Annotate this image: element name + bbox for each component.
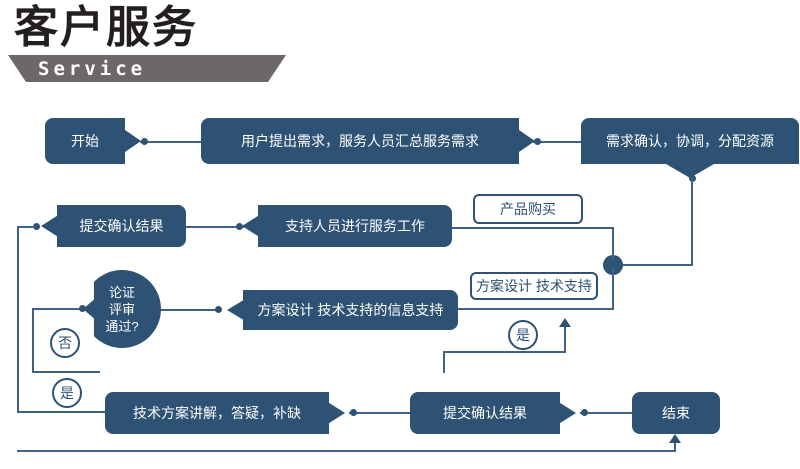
connector-left-outer-vertical — [17, 226, 19, 412]
connector-confirm-to-junction — [613, 264, 693, 266]
decision-line-3: 通过? — [105, 318, 138, 335]
connector-yes-from-bottom — [443, 351, 445, 373]
node-support-staff-service-work[interactable]: 支持人员进行服务工作 — [242, 205, 452, 247]
connector-dot — [215, 306, 222, 313]
connector-confirm-down — [691, 178, 693, 266]
node-label: 产品购买 — [500, 199, 556, 219]
edge-label-yes-right: 是 — [508, 320, 538, 350]
page-title: 客户服务 — [14, 4, 198, 52]
connector-dot — [534, 138, 541, 145]
connector-yes-horizontal — [443, 351, 566, 353]
node-label: 结束 — [662, 403, 690, 423]
connector-dot — [350, 409, 357, 416]
node-label: 开始 — [71, 131, 99, 151]
connector-dot — [236, 223, 243, 230]
connector-left-stub — [17, 226, 35, 228]
node-label: 提交确认结果 — [80, 216, 164, 236]
node-solution-design-info-support[interactable]: 方案设计 技术支持的信息支持 — [227, 290, 458, 330]
connector-left-outer-bottom — [17, 411, 105, 413]
node-submit-confirm-result-lower[interactable]: 提交确认结果 — [410, 392, 576, 434]
header-subtitle: Service — [38, 56, 146, 82]
edge-label-text: 是 — [516, 325, 530, 345]
connector-decision-to-info-support — [158, 309, 220, 311]
node-collect-requirements[interactable]: 用户提出需求，服务人员汇总服务需求 — [201, 118, 535, 164]
node-label: 用户提出需求，服务人员汇总服务需求 — [241, 131, 479, 151]
connector-dot — [141, 138, 148, 145]
connector-junction-down — [612, 268, 614, 310]
node-product-purchase[interactable]: 产品购买 — [473, 194, 583, 224]
node-label: 支持人员进行服务工作 — [285, 216, 425, 236]
connector-yes-up-vertical — [564, 327, 566, 352]
node-start[interactable]: 开始 — [45, 118, 141, 164]
edge-label-yes-left: 是 — [52, 378, 82, 408]
decision-line-1: 论证 — [109, 284, 135, 301]
edge-label-text: 是 — [60, 383, 74, 403]
connector-decision-in — [32, 308, 84, 310]
node-end[interactable]: 结束 — [632, 392, 720, 434]
connector-bottom-feedback — [17, 450, 676, 452]
node-submit-confirm-result-upper[interactable]: 提交确认结果 — [41, 205, 186, 247]
node-decision-review-passed[interactable]: 论证 评审 通过? — [83, 270, 161, 348]
connector-row3-right — [458, 308, 472, 310]
node-label: 方案设计 技术支持 — [476, 276, 592, 296]
node-label: 需求确认，协调，分配资源 — [606, 131, 774, 151]
arrowhead-up-icon — [559, 318, 571, 327]
node-label: 技术方案讲解，答疑，补缺 — [133, 403, 301, 423]
edge-label-no: 否 — [50, 328, 80, 358]
connector-no-branch-vertical — [32, 308, 34, 372]
flowchart-canvas: 客户服务 Service 开始 用户提出需求，服务人员汇总服务需求 需求确认，协… — [0, 0, 800, 469]
node-label: 提交确认结果 — [443, 403, 527, 423]
connector-dot — [79, 305, 86, 312]
connector-junction-up — [612, 228, 614, 260]
node-tech-explain-qa-supplement[interactable]: 技术方案讲解，答疑，补缺 — [105, 392, 345, 434]
edge-label-text: 否 — [58, 333, 72, 353]
connector-dot — [581, 409, 588, 416]
connector-explain-to-submit — [349, 412, 411, 414]
decision-line-2: 评审 — [109, 301, 135, 318]
node-label: 方案设计 技术支持的信息支持 — [258, 300, 444, 320]
arrowhead-up-icon — [669, 434, 681, 443]
connector-bottom-feedback-up — [674, 443, 676, 452]
node-solution-design-tech-support[interactable]: 方案设计 技术支持 — [470, 272, 598, 300]
connector-to-solution-design — [452, 308, 614, 310]
connector-start-to-collect — [140, 141, 202, 143]
connector-no-branch-bottom — [32, 371, 100, 373]
connector-to-product-purchase — [452, 227, 614, 229]
node-confirm-coordinate-allocate[interactable]: 需求确认，协调，分配资源 — [581, 118, 799, 178]
